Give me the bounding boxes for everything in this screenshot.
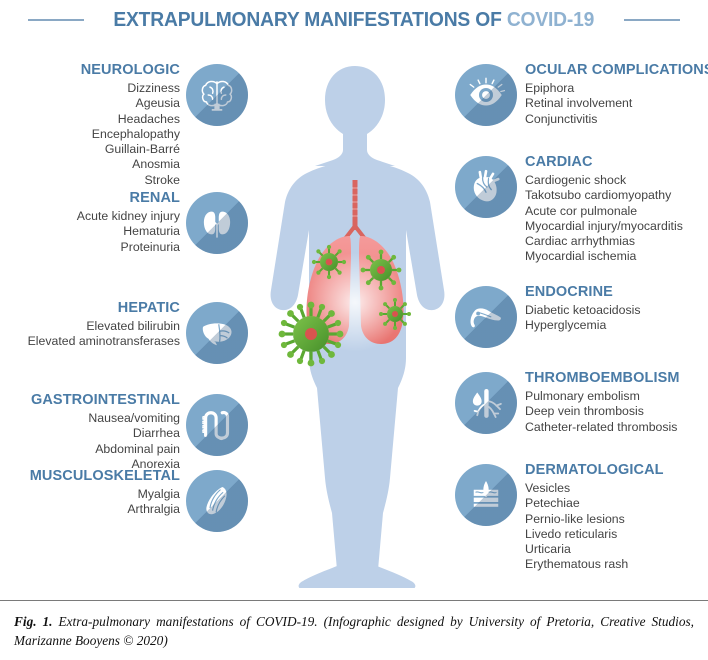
manifestation-item: Retinal involvement [525,96,632,111]
manifestation-item: Guillain-Barré [105,142,180,157]
page-title-main: EXTRAPULMONARY MANIFESTATIONS OF [114,8,502,31]
section-heading: NEUROLOGIC [81,62,180,79]
manifestation-item: Arthralgia [127,502,180,517]
caption-divider [0,600,708,601]
intestine-icon [186,394,248,456]
manifestation-item: Abdominal pain [95,442,180,457]
page-title-highlight: COVID-19 [507,8,594,31]
page-title-bar: EXTRAPULMONARY MANIFESTATIONS OF COVID-1… [0,0,708,40]
manifestation-item: Diarrhea [133,426,180,441]
section-ocular-complications: OCULAR COMPLICATIONSEpiphoraRetinal invo… [455,62,708,127]
eye-icon [455,64,517,126]
section-text-block: NEUROLOGICDizzinessAgeusiaHeadachesEncep… [81,62,186,188]
heart-icon [455,156,517,218]
manifestation-item: Takotsubo cardiomyopathy [525,188,671,203]
manifestation-item: Stroke [144,173,180,188]
section-renal: RENALAcute kidney injuryHematuriaProtein… [77,190,248,255]
section-dermatological: DERMATOLOGICALVesiclesPetechiaePernio-li… [455,462,664,573]
section-neurologic: NEUROLOGICDizzinessAgeusiaHeadachesEncep… [81,62,248,188]
figure-label: Fig. 1. [14,614,53,629]
section-heading: THROMBOEMBOLISM [525,370,680,387]
section-heading: MUSCULOSKELETAL [30,468,180,485]
brain-icon [186,64,248,126]
section-text-block: MUSCULOSKELETALMyalgiaArthralgia [30,468,186,518]
manifestation-item: Hematuria [123,224,180,239]
section-text-block: RENALAcute kidney injuryHematuriaProtein… [77,190,186,255]
section-heading: ENDOCRINE [525,284,613,301]
title-rule-right [624,19,680,21]
manifestation-item: Cardiac arrhythmias [525,234,635,249]
manifestation-item: Deep vein thrombosis [525,404,644,419]
manifestation-item: Myalgia [138,487,180,502]
manifestation-item: Hyperglycemia [525,318,606,333]
muscle-icon [186,470,248,532]
section-text-block: CARDIACCardiogenic shockTakotsubo cardio… [517,154,683,265]
figure-caption-text: Extra-pulmonary manifestations of COVID-… [14,614,694,648]
page-title: EXTRAPULMONARY MANIFESTATIONS OF COVID-1… [114,8,595,32]
manifestation-item: Acute kidney injury [77,209,180,224]
section-cardiac: CARDIACCardiogenic shockTakotsubo cardio… [455,154,683,265]
section-gastrointestinal: GASTROINTESTINALNausea/vomitingDiarrheaA… [31,392,248,472]
section-text-block: DERMATOLOGICALVesiclesPetechiaePernio-li… [517,462,664,573]
section-text-block: ENDOCRINEDiabetic ketoacidosisHyperglyce… [517,284,641,334]
section-hepatic: HEPATICElevated bilirubinElevated aminot… [28,300,248,364]
manifestation-item: Pulmonary embolism [525,389,640,404]
manifestation-item: Livedo reticularis [525,527,617,542]
manifestation-item: Elevated bilirubin [86,319,180,334]
skin-icon [455,464,517,526]
manifestation-item: Headaches [118,112,180,127]
section-heading: GASTROINTESTINAL [31,392,180,409]
manifestation-item: Ageusia [136,96,180,111]
manifestation-item: Cardiogenic shock [525,173,626,188]
manifestation-item: Vesicles [525,481,570,496]
manifestation-item: Myocardial injury/myocarditis [525,219,683,234]
section-heading: HEPATIC [118,300,180,317]
manifestation-item: Epiphora [525,81,574,96]
section-thromboembolism: THROMBOEMBOLISMPulmonary embolismDeep ve… [455,370,680,435]
manifestation-item: Diabetic ketoacidosis [525,303,641,318]
manifestation-item: Petechiae [525,496,580,511]
human-body-figure [255,58,455,588]
title-rule-left [28,19,84,21]
manifestation-item: Catheter-related thrombosis [525,420,677,435]
manifestation-item: Elevated aminotransferases [28,334,180,349]
section-text-block: OCULAR COMPLICATIONSEpiphoraRetinal invo… [517,62,708,127]
section-text-block: HEPATICElevated bilirubinElevated aminot… [28,300,186,350]
blood-vessel-icon [455,372,517,434]
pancreas-icon [455,286,517,348]
manifestation-item: Anosmia [132,157,180,172]
manifestation-item: Acute cor pulmonale [525,204,637,219]
manifestation-item: Proteinuria [121,240,180,255]
manifestation-item: Encephalopathy [92,127,180,142]
section-heading: CARDIAC [525,154,593,171]
manifestation-item: Myocardial ischemia [525,249,636,264]
section-endocrine: ENDOCRINEDiabetic ketoacidosisHyperglyce… [455,284,641,348]
section-musculoskeletal: MUSCULOSKELETALMyalgiaArthralgia [30,468,248,532]
section-heading: OCULAR COMPLICATIONS [525,62,708,79]
section-heading: DERMATOLOGICAL [525,462,664,479]
liver-icon [186,302,248,364]
section-heading: RENAL [130,190,180,207]
kidneys-icon [186,192,248,254]
manifestation-item: Pernio-like lesions [525,512,625,527]
section-text-block: GASTROINTESTINALNausea/vomitingDiarrheaA… [31,392,186,472]
manifestation-item: Erythematous rash [525,557,628,572]
manifestation-item: Nausea/vomiting [88,411,180,426]
figure-caption: Fig. 1. Extra-pulmonary manifestations o… [14,612,694,650]
manifestation-item: Dizziness [127,81,180,96]
section-text-block: THROMBOEMBOLISMPulmonary embolismDeep ve… [517,370,680,435]
manifestation-item: Urticaria [525,542,571,557]
manifestation-item: Conjunctivitis [525,112,597,127]
